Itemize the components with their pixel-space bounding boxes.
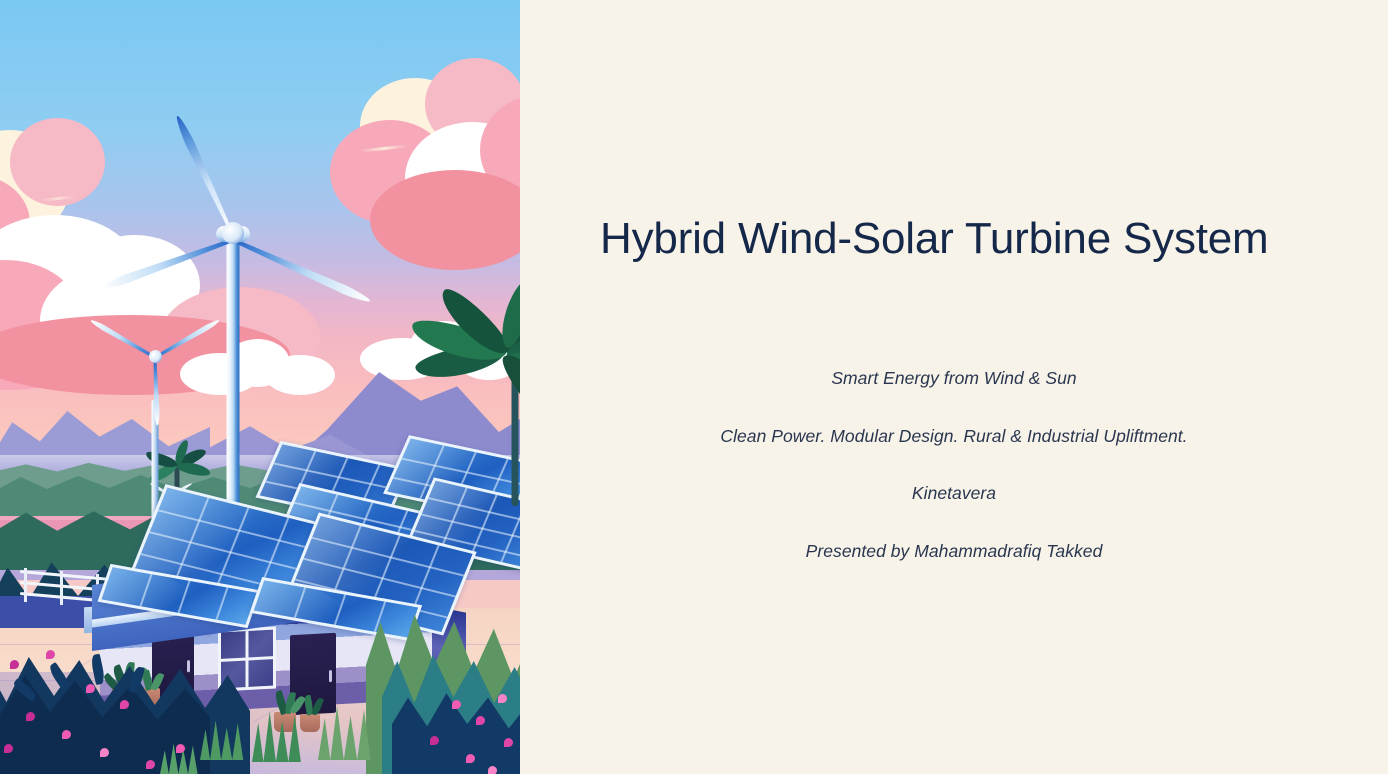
door-handle[interactable] — [187, 660, 190, 672]
flower — [86, 684, 95, 693]
flower — [4, 744, 13, 753]
slide-content: Hybrid Wind-Solar Turbine System Smart E… — [520, 0, 1388, 774]
railing-post — [60, 571, 63, 605]
tagline: Smart Energy from Wind & Sun — [520, 370, 1388, 388]
railing-post — [24, 568, 27, 602]
flower — [120, 700, 129, 709]
presenter-name: Presented by Mahammadrafiq Takked — [520, 543, 1388, 561]
palm-tree — [420, 296, 520, 506]
flower — [488, 766, 497, 774]
cloud-puff — [370, 170, 520, 270]
page-title: Hybrid Wind-Solar Turbine System — [600, 210, 1300, 268]
company-name: Kinetavera — [520, 485, 1388, 503]
flower — [10, 660, 19, 669]
cloud-puff — [265, 355, 335, 395]
flower — [146, 760, 155, 769]
flower — [476, 716, 485, 725]
flower — [26, 712, 35, 721]
door-handle[interactable] — [329, 670, 332, 682]
flower — [176, 744, 185, 753]
flower — [452, 700, 461, 709]
flower — [498, 694, 507, 703]
flower — [430, 736, 439, 745]
cloud-cluster-right — [330, 60, 520, 260]
turbine-hub — [222, 222, 244, 244]
flower — [504, 738, 513, 747]
cloud-puff — [10, 118, 105, 206]
hybrid-wind-solar-illustration — [0, 0, 520, 774]
flower-pot — [300, 714, 320, 732]
subtitle-block: Smart Energy from Wind & Sun Clean Power… — [520, 360, 1388, 560]
title-slide: Hybrid Wind-Solar Turbine System Smart E… — [0, 0, 1388, 774]
flower — [100, 748, 109, 757]
value-props: Clean Power. Modular Design. Rural & Ind… — [520, 428, 1388, 446]
flower — [466, 754, 475, 763]
flower-pot — [274, 712, 296, 732]
turbine-hub — [149, 350, 162, 363]
flower — [62, 730, 71, 739]
flower — [46, 650, 55, 659]
